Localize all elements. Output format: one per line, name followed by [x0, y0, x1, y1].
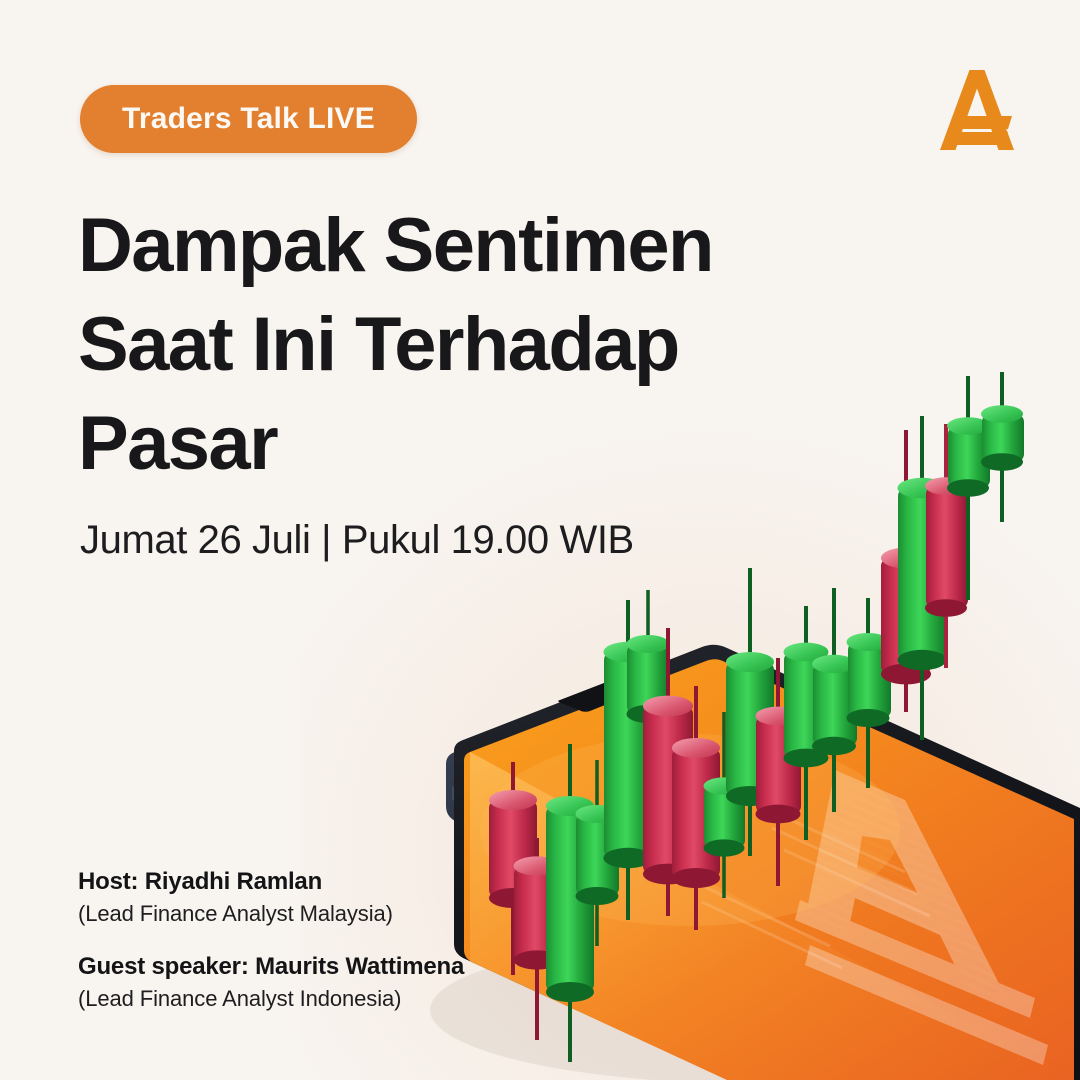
- credit-host-name: Host: Riyadhi Ramlan: [78, 866, 464, 898]
- candle-2-down: [514, 838, 562, 1040]
- candle-13-up: [812, 588, 857, 812]
- candle-19-up: [981, 372, 1024, 522]
- headline-line-3: Pasar: [78, 394, 818, 493]
- credit-guest-name: Guest speaker: Maurits Wattimena: [78, 951, 464, 983]
- headline-line-1: Dampak Sentimen: [78, 196, 818, 295]
- credit-host: Host: Riyadhi Ramlan (Lead Finance Analy…: [78, 866, 464, 929]
- poster-canvas: Traders Talk LIVE Dampak Sentimen Saat I…: [0, 0, 1080, 1080]
- candle-12-up: [784, 606, 830, 840]
- page-title: Dampak Sentimen Saat Ini Terhadap Pasar: [78, 196, 818, 493]
- candle-6-up: [627, 590, 671, 800]
- credit-guest: Guest speaker: Maurits Wattimena (Lead F…: [78, 951, 464, 1014]
- credit-guest-role: (Lead Finance Analyst Indonesia): [78, 983, 464, 1014]
- headline-line-2: Saat Ini Terhadap: [78, 295, 818, 394]
- brand-a-logo-icon: [928, 62, 1024, 158]
- live-badge-label: Traders Talk LIVE: [122, 102, 375, 136]
- candle-8-down: [672, 686, 720, 930]
- candle-3-up: [546, 744, 594, 1062]
- candle-18-up: [947, 376, 990, 600]
- speaker-credits: Host: Riyadhi Ramlan (Lead Finance Analy…: [78, 866, 464, 1014]
- candle-4-up: [576, 760, 620, 946]
- candle-17-down: [925, 424, 968, 668]
- candle-16-up: [898, 416, 948, 740]
- live-badge[interactable]: Traders Talk LIVE: [80, 85, 417, 153]
- candle-7-down: [643, 628, 693, 916]
- screen-logo-watermark: [795, 770, 1048, 1065]
- candle-14-up: [847, 598, 892, 788]
- credit-host-role: (Lead Finance Analyst Malaysia): [78, 898, 464, 929]
- candle-1-down: [489, 762, 537, 975]
- candle-11-down: [756, 658, 802, 886]
- schedule-text: Jumat 26 Juli | Pukul 19.00 WIB: [80, 513, 634, 567]
- phone-device: [446, 645, 1080, 1080]
- candle-5-up: [604, 600, 654, 920]
- candle-10-up: [726, 568, 774, 856]
- screen-texture-stripes: [806, 770, 1010, 1005]
- candle-15-down: [881, 430, 931, 712]
- candle-9-up: [704, 712, 746, 898]
